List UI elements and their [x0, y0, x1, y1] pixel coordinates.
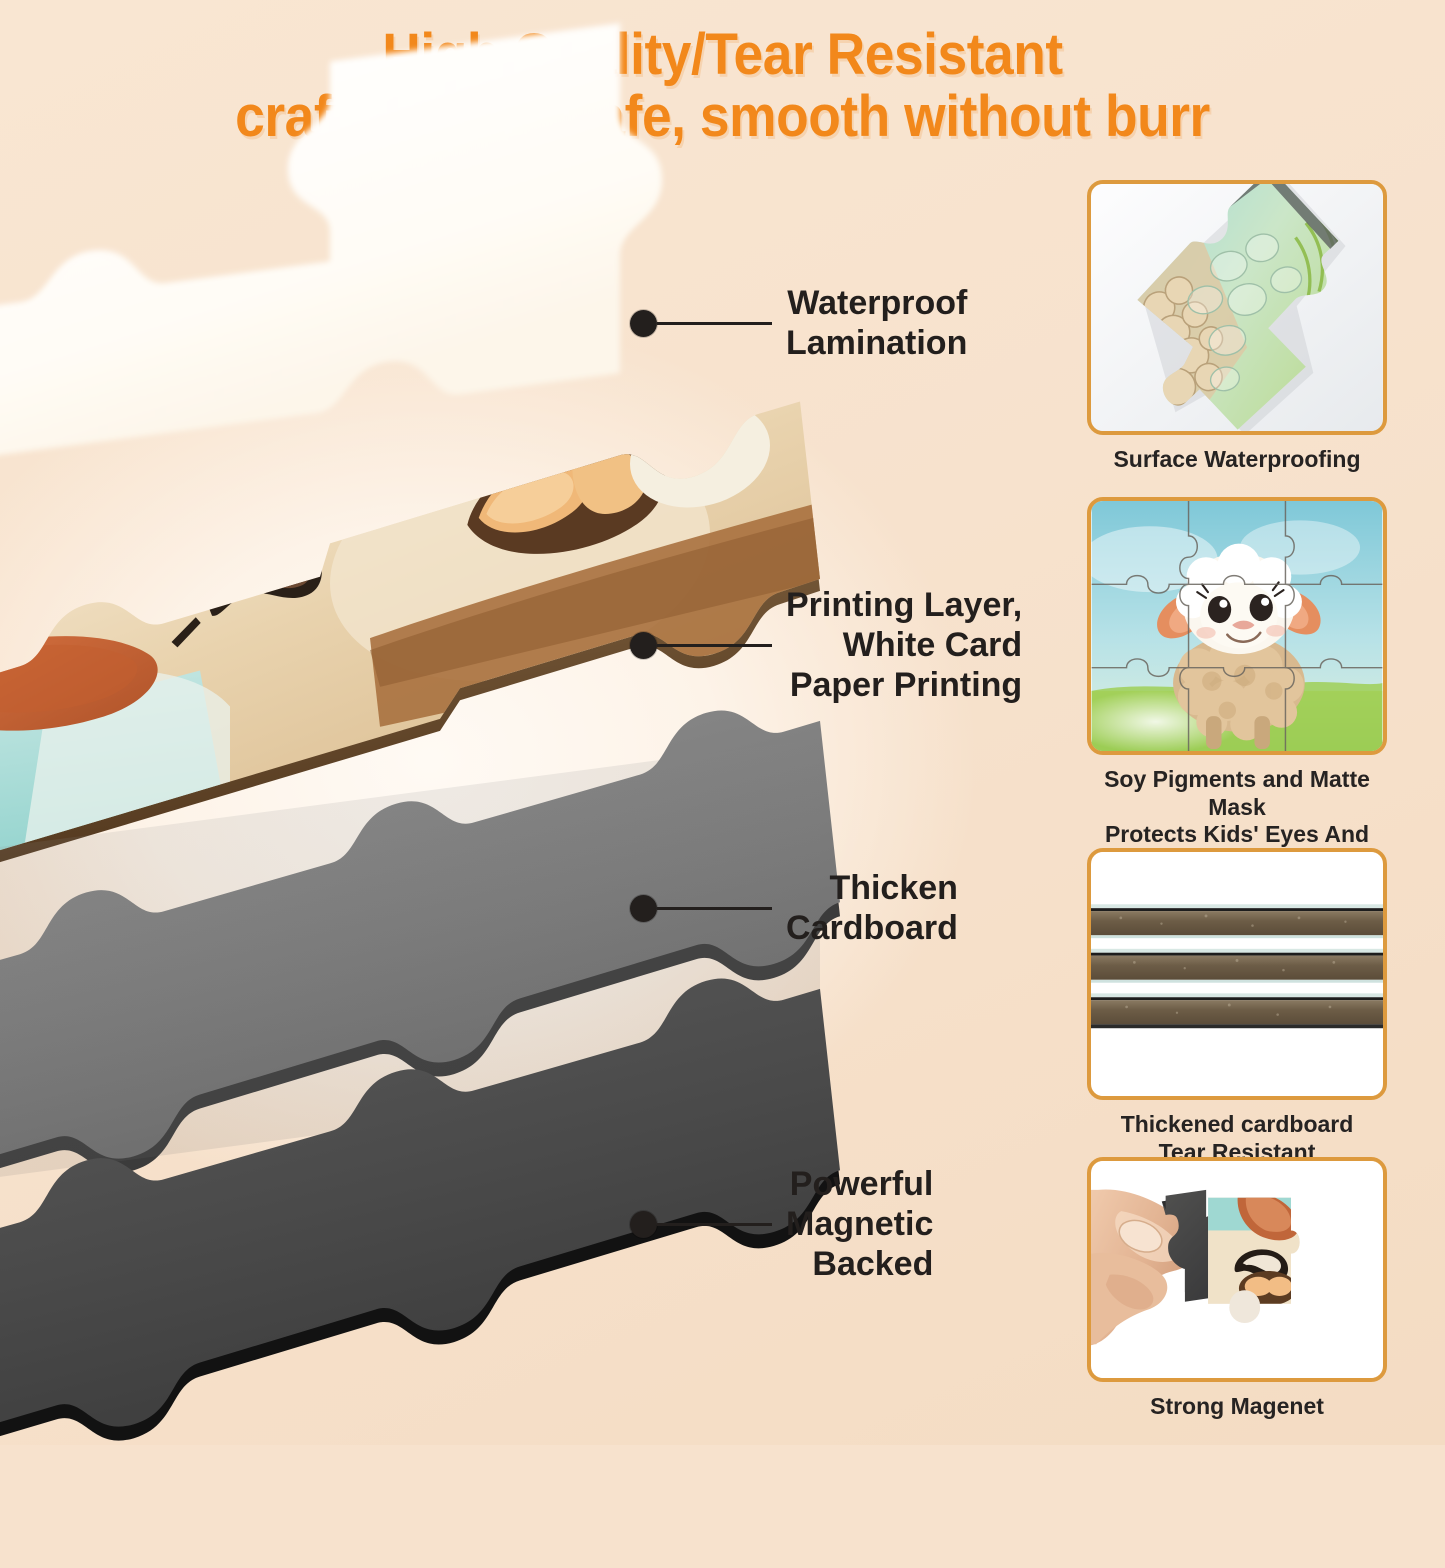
title-line-1: High Quality/Tear Resistant	[58, 24, 1387, 86]
callout-dot-icon	[630, 1211, 657, 1238]
panel-frame	[1087, 180, 1387, 435]
cardboard-cross-section-photo	[1091, 852, 1383, 1096]
callout-dot-icon	[630, 632, 657, 659]
callout-label: Powerful Magnetic Backed	[786, 1164, 933, 1284]
callout-dot-icon	[630, 310, 657, 337]
panel-surface-waterproofing: Surface Waterproofing	[1087, 180, 1387, 474]
callout-label: Thicken Cardboard	[786, 868, 958, 948]
callout-leader-line	[657, 907, 772, 910]
panel-soy-pigments: Soy Pigments and Matte Mask Protects Kid…	[1087, 497, 1387, 876]
panel-thickened-cardboard: Thickened cardboard Tear Resistant	[1087, 848, 1387, 1166]
panel-caption: Surface Waterproofing	[1087, 446, 1387, 474]
callout-label: Waterproof Lamination	[786, 283, 967, 363]
waterproof-piece-photo	[1091, 184, 1383, 431]
title-line-2: craft cutting, safe, smooth without burr	[58, 86, 1387, 148]
panel-caption: Strong Magenet	[1087, 1393, 1387, 1421]
panel-strong-magnet: Strong Magenet	[1087, 1157, 1387, 1421]
magnet-layer	[0, 1008, 780, 1568]
hand-holding-magnet-piece-photo	[1091, 1161, 1383, 1378]
panel-frame	[1087, 848, 1387, 1100]
infographic-canvas: High Quality/Tear Resistant craft cuttin…	[0, 0, 1445, 1445]
callout-waterproof-lamination: Waterproof Lamination	[630, 283, 967, 363]
callout-printing-layer: Printing Layer, White Card Paper Printin…	[630, 585, 1022, 705]
callout-dot-icon	[630, 895, 657, 922]
panel-frame	[1087, 497, 1387, 755]
callout-leader-line	[657, 1223, 772, 1226]
lamb-puzzle-photo	[1091, 501, 1383, 751]
callout-thicken-cardboard: Thicken Cardboard	[630, 868, 958, 948]
callout-label: Printing Layer, White Card Paper Printin…	[786, 585, 1022, 705]
page-title: High Quality/Tear Resistant craft cuttin…	[0, 24, 1445, 148]
callout-leader-line	[657, 322, 772, 325]
callout-leader-line	[657, 644, 772, 647]
panel-frame	[1087, 1157, 1387, 1382]
callout-magnetic-backed: Powerful Magnetic Backed	[630, 1164, 933, 1284]
